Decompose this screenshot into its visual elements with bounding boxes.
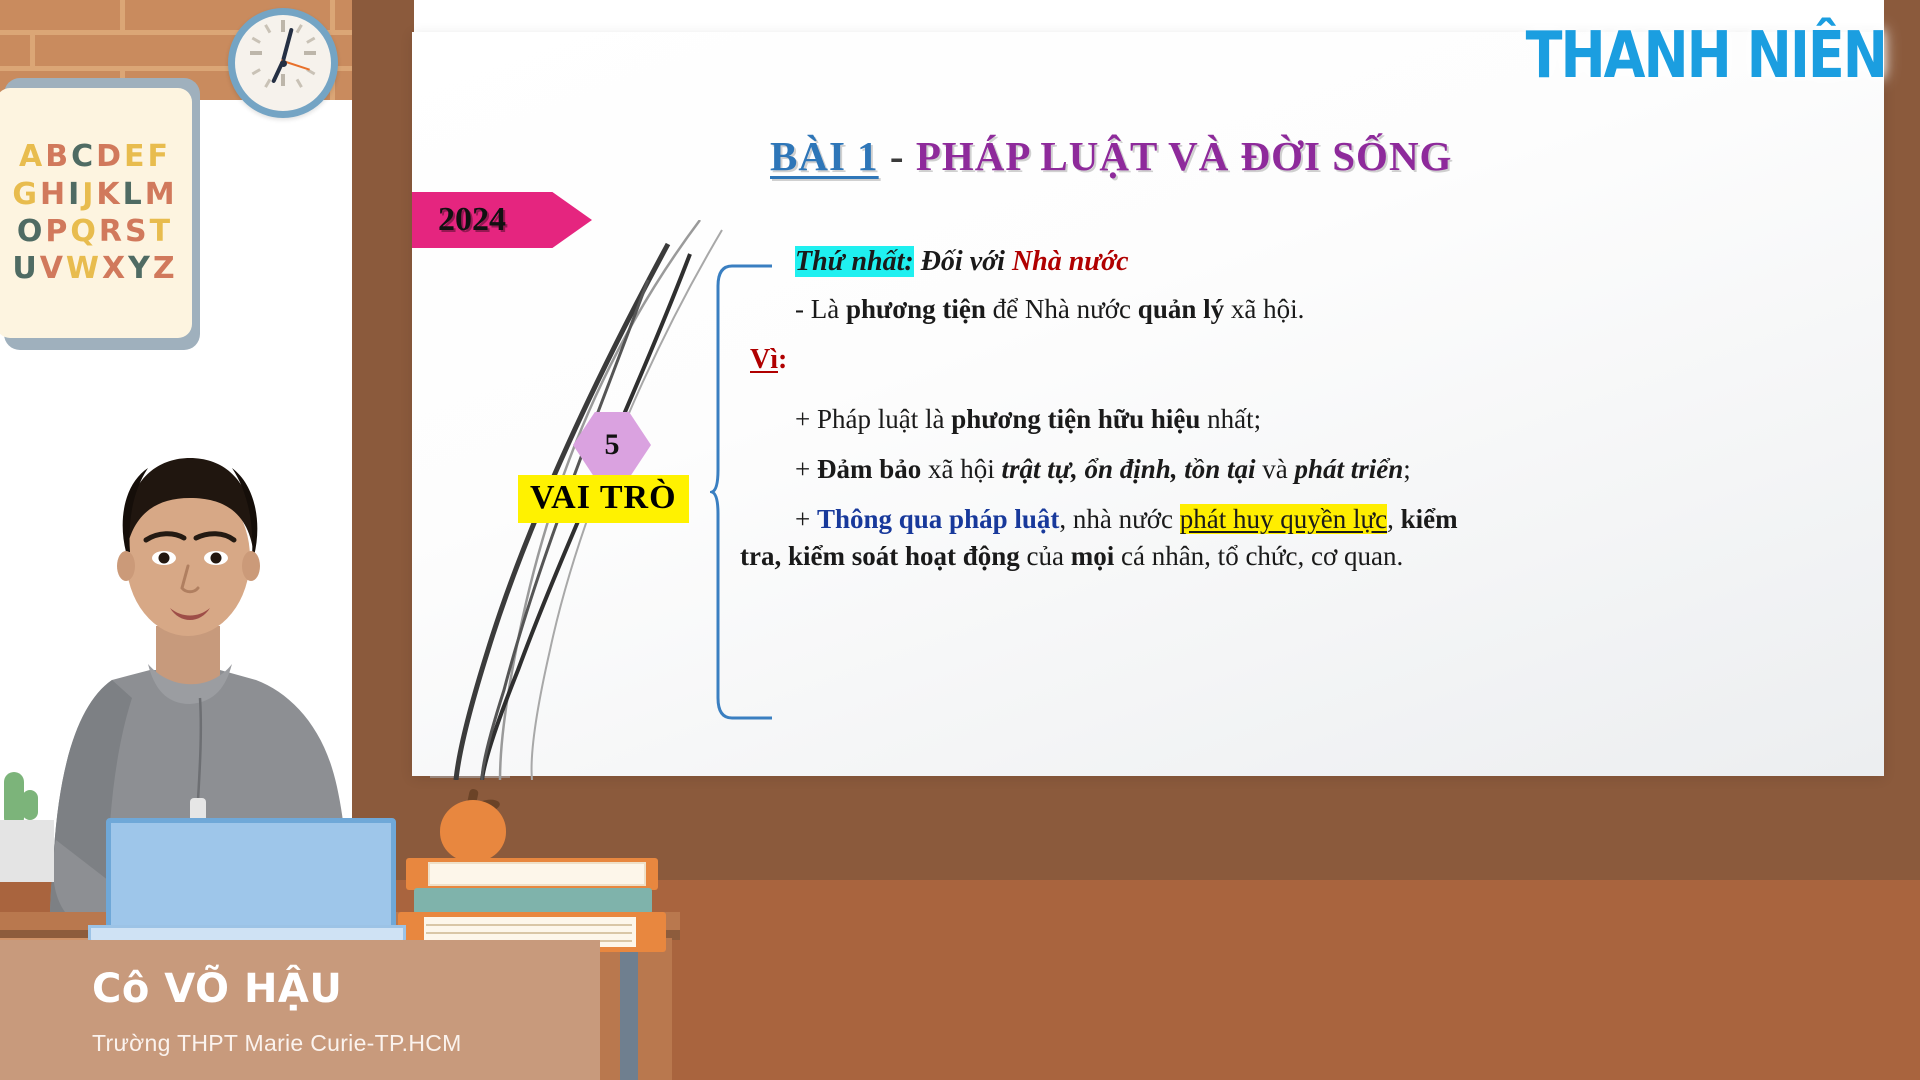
- laptop-screen: [106, 818, 396, 938]
- alphabet-letter: V: [39, 251, 65, 286]
- alphabet-letter: Y: [127, 251, 152, 286]
- bullet3-wrap-a: của: [1020, 541, 1071, 571]
- year-badge-label: 2024: [438, 201, 506, 239]
- dash1-bold-2: quản lý: [1138, 294, 1224, 324]
- content-bullet-3-wrap: tra, kiểm soát hoạt động của mọi cá nhân…: [740, 543, 1403, 570]
- apple-icon: [440, 800, 506, 862]
- bullet3-wrap-bold-2: mọi: [1071, 541, 1115, 571]
- alphabet-letter: Q: [69, 214, 98, 249]
- alphabet-letter: T: [149, 214, 172, 249]
- bullet2-italic-1: trật tự, ổn định, tồn tại: [1002, 454, 1256, 484]
- bullet3-wrap-bold: tra, kiểm soát hoạt động: [740, 541, 1020, 571]
- reason-label-colon: :: [778, 344, 787, 375]
- desk-leg: [620, 930, 638, 1080]
- clock-minute-hand: [281, 28, 294, 62]
- alphabet-letter: P: [44, 214, 69, 249]
- alphabet-letter: C: [70, 139, 95, 174]
- bullet2-a: xã hội: [921, 454, 1001, 484]
- bullet2-mid: và: [1256, 454, 1295, 484]
- alphabet-poster: ABCDEF GHIJKLM OPQRST UVWXYZ: [4, 78, 200, 350]
- alphabet-row-2: OPQRST: [16, 214, 172, 249]
- alphabet-letter: M: [144, 177, 177, 212]
- alphabet-letter: F: [147, 139, 171, 174]
- alphabet-letter: R: [98, 214, 124, 249]
- alphabet-letter: L: [122, 177, 144, 212]
- content-bullet-3: + Thông qua pháp luật, nhà nước phát huy…: [795, 506, 1458, 533]
- content-heading: Thứ nhất: Đối với Nhà nước: [795, 248, 1129, 276]
- dash1-tail: xã hội.: [1224, 294, 1304, 324]
- bullet1-a: Pháp luật là: [817, 404, 951, 434]
- content-line-dash-1: - Là phương tiện để Nhà nước quản lý xã …: [795, 296, 1304, 323]
- slide-title: BÀI 1 - PHÁP LUẬT VÀ ĐỜI SỐNG: [770, 132, 1452, 180]
- alphabet-letter: B: [44, 139, 70, 174]
- plant-pot: [0, 820, 54, 882]
- bullet2-plus: +: [795, 454, 817, 484]
- bullet3-highlight: phát huy quyền lực: [1180, 504, 1387, 534]
- alphabet-letter: S: [124, 214, 149, 249]
- alphabet-letter: O: [16, 214, 45, 249]
- bullet3-bold-1: kiểm: [1401, 504, 1458, 534]
- slide-title-lesson: BÀI 1: [770, 133, 879, 179]
- content-bullet-1: + Pháp luật là phương tiện hữu hiệu nhất…: [795, 406, 1261, 433]
- bullet3-wrap-tail: cá nhân, tổ chức, cơ quan.: [1114, 541, 1403, 571]
- thanh-nien-logo: THANH NIÊN: [1526, 18, 1886, 92]
- alphabet-row-3: UVWXYZ: [11, 251, 176, 286]
- bullet2-end: ;: [1403, 454, 1411, 484]
- section-label-badge: VAI TRÒ: [518, 475, 689, 523]
- alphabet-letter: I: [67, 177, 81, 212]
- reason-label: Vì: [750, 344, 778, 375]
- book-top: [406, 858, 658, 890]
- dash1-bold-1: phương tiện: [846, 294, 986, 324]
- heading-prefix: Thứ nhất:: [795, 246, 914, 277]
- bullet1-c: nhất;: [1200, 404, 1261, 434]
- bullet3-plus: +: [795, 504, 817, 534]
- bullet2-bold-1: Đảm bảo: [817, 454, 921, 484]
- content-reason-label: Vì:: [750, 346, 787, 374]
- heading-emphasis: Nhà nước: [1012, 246, 1129, 277]
- alphabet-letter: D: [95, 139, 123, 174]
- heading-mid: Đối với: [914, 246, 1012, 277]
- bullet3-comma: ,: [1387, 504, 1401, 534]
- cactus-arm: [22, 790, 38, 820]
- bullet1-plus: +: [795, 404, 817, 434]
- bullet3-blue: Thông qua pháp luật: [817, 504, 1059, 534]
- alphabet-letter: W: [65, 251, 101, 286]
- alphabet-row-1: GHIJKLM: [11, 177, 176, 212]
- alphabet-letter: G: [11, 177, 39, 212]
- alphabet-letter: U: [11, 251, 38, 286]
- alphabet-letter: H: [39, 177, 67, 212]
- dash1-a: - Là: [795, 294, 846, 324]
- presenter-school: Trường THPT Marie Curie-TP.HCM: [92, 1030, 462, 1057]
- alphabet-letter: K: [95, 177, 121, 212]
- section-label-text: VAI TRÒ: [530, 479, 677, 516]
- alphabet-poster-inner: ABCDEF GHIJKLM OPQRST UVWXYZ: [0, 88, 192, 338]
- bullet3-a: , nhà nước: [1059, 504, 1179, 534]
- section-number-label: 5: [605, 428, 620, 462]
- alphabet-letter: A: [18, 139, 44, 174]
- alphabet-letter: J: [81, 177, 95, 212]
- presenter-name: Cô VÕ HẬU: [92, 966, 342, 1012]
- slide-title-dash: -: [879, 133, 916, 179]
- slide-canvas: ABCDEF GHIJKLM OPQRST UVWXYZ THANH NIÊN …: [0, 0, 1920, 1080]
- dash1-mid: để Nhà nước: [986, 294, 1138, 324]
- content-bullet-2: + Đảm bảo xã hội trật tự, ổn định, tồn t…: [795, 456, 1411, 483]
- book-middle: [414, 888, 652, 914]
- slide-title-subject: PHÁP LUẬT VÀ ĐỜI SỐNG: [916, 133, 1453, 179]
- bullet1-b: phương tiện hữu hiệu: [951, 404, 1200, 434]
- wall-clock-icon: [228, 8, 338, 118]
- alphabet-row-0: ABCDEF: [18, 139, 170, 174]
- alphabet-letter: E: [123, 139, 147, 174]
- clock-center-pin: [280, 60, 287, 67]
- alphabet-letter: Z: [152, 251, 177, 286]
- alphabet-letter: X: [101, 251, 127, 286]
- bullet2-italic-2: phát triển: [1295, 454, 1404, 484]
